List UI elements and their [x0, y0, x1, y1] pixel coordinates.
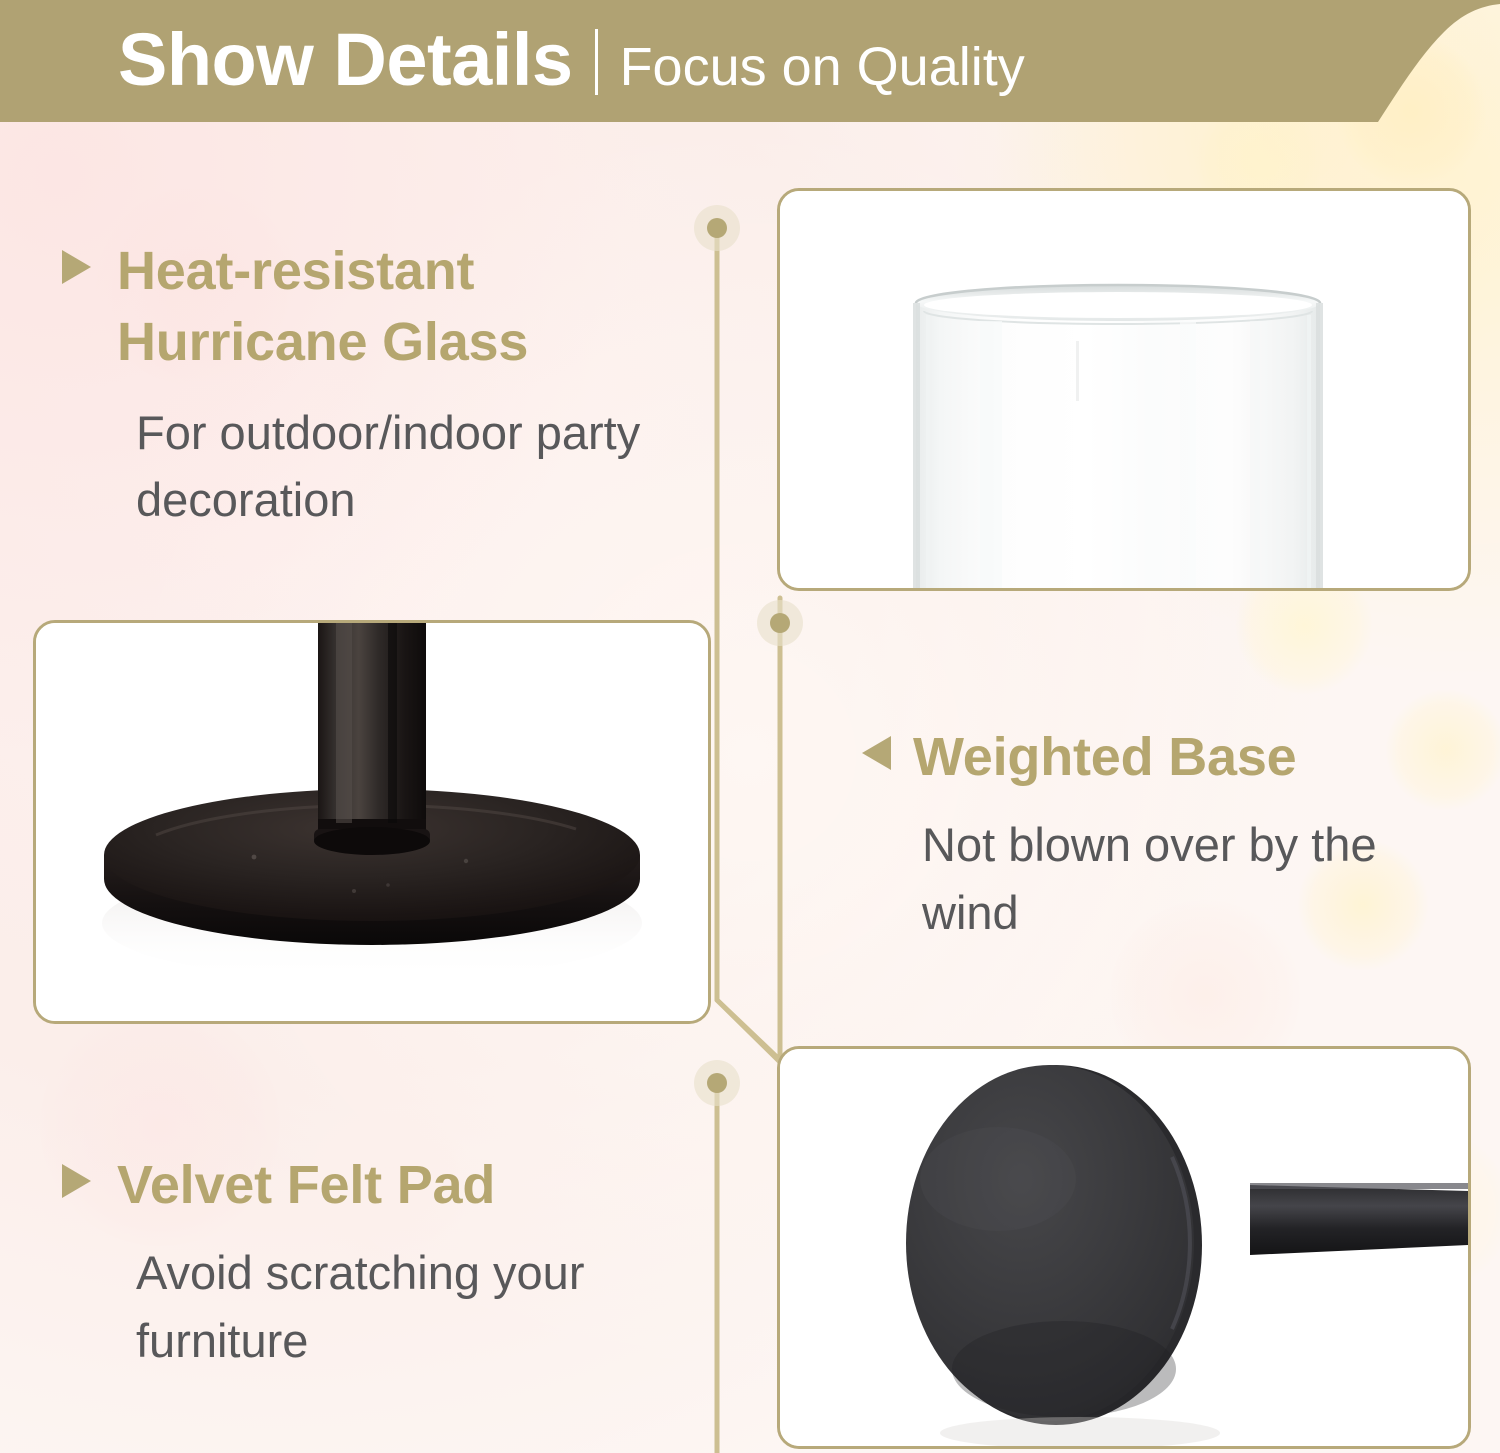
feature-description: Avoid scratching your furniture: [136, 1239, 662, 1374]
header-banner: Show Details Focus on Quality: [0, 0, 1500, 122]
feature-heading-row: Velvet Felt Pad: [62, 1150, 662, 1221]
feature-heading-row: Weighted Base: [862, 722, 1422, 793]
feature-title: Heat-resistant Hurricane Glass: [117, 236, 662, 379]
page-title: Show Details: [118, 8, 573, 112]
feature-description: For outdoor/indoor party decoration: [136, 399, 662, 534]
triangle-right-icon: [62, 1164, 91, 1198]
feature-title: Velvet Felt Pad: [117, 1150, 495, 1221]
product-detail-infographic: Show Details Focus on Quality: [0, 0, 1500, 1453]
feature-velvet-felt-pad: Velvet Felt Pad Avoid scratching your fu…: [62, 1150, 662, 1375]
feature-heat-resistant-hurricane-glass: Heat-resistant Hurricane Glass For outdo…: [62, 236, 662, 534]
base-photo-panel: [33, 620, 711, 1024]
triangle-right-icon: [62, 250, 91, 284]
feature-heading-row: Heat-resistant Hurricane Glass: [62, 236, 662, 379]
connector-node-pad: [694, 1060, 740, 1106]
feature-weighted-base: Weighted Base Not blown over by the wind: [862, 722, 1422, 947]
header-text-group: Show Details Focus on Quality: [118, 8, 1025, 112]
header-divider: [595, 29, 598, 95]
connector-node-base: [757, 600, 803, 646]
connector-node-glass: [694, 205, 740, 251]
header-subtitle: Focus on Quality: [620, 15, 1025, 119]
felt-pad-photo-panel: [777, 1046, 1471, 1449]
feature-title: Weighted Base: [913, 722, 1297, 793]
feature-description: Not blown over by the wind: [922, 811, 1422, 946]
glass-photo-panel: [777, 188, 1471, 591]
triangle-left-icon: [862, 736, 891, 770]
